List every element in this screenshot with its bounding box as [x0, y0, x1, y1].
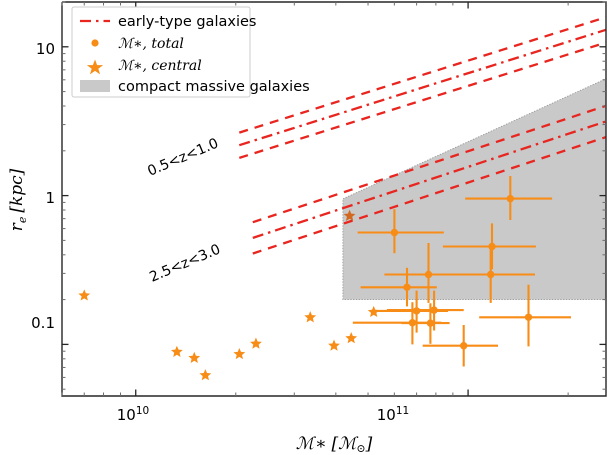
patch-swatch-icon: [80, 80, 110, 92]
circle-marker: [487, 271, 494, 278]
x-tick-label-1e10: 1010: [117, 405, 149, 424]
data-point: [171, 346, 183, 357]
star-marker: [250, 338, 262, 349]
legend-label-compact: compact massive galaxies: [118, 79, 310, 95]
data-point: [233, 348, 245, 359]
data-point: [188, 352, 200, 363]
annotation-high-z: 0.5<z<1.0: [145, 136, 221, 180]
circle-marker: [488, 243, 495, 250]
star-marker: [199, 369, 211, 380]
x-axis-title: ℳ∗[ℳ⊙]: [296, 434, 373, 455]
y-axis-title-text: re[kpc]: [7, 168, 29, 231]
annotation-label: 2.5<z<3.0: [147, 242, 223, 286]
series-m-central: [78, 210, 379, 381]
annotation-label: 0.5<z<1.0: [145, 136, 221, 180]
scatter-plot: 0.5<z<1.0 2.5<z<3.0 1010 1011 0.1 1 10: [0, 0, 614, 455]
x-tick-labels: 1010 1011: [117, 405, 409, 424]
legend: early-type galaxies ℳ∗, total ℳ∗, centra…: [72, 7, 310, 97]
star-marker: [171, 346, 183, 357]
x-tick-label-1e11: 1011: [377, 405, 409, 424]
legend-label-early-type: early-type galaxies: [118, 14, 256, 30]
y-axis-title: re[kpc]: [7, 168, 29, 231]
star-marker: [345, 332, 357, 343]
legend-label-m-central: ℳ∗, central: [118, 58, 202, 74]
circle-marker: [425, 271, 432, 278]
circle-marker: [525, 314, 532, 321]
y-tick-label-10: 10: [36, 40, 55, 58]
circle-marker: [460, 342, 467, 349]
data-point: [304, 311, 316, 322]
dot-marker-icon: [91, 39, 98, 46]
data-point: [199, 369, 211, 380]
annotation-low-z: 2.5<z<3.0: [147, 242, 223, 286]
circle-marker: [413, 307, 420, 314]
figure-canvas: 0.5<z<1.0 2.5<z<3.0 1010 1011 0.1 1 10: [0, 0, 614, 455]
circle-marker: [507, 195, 514, 202]
circle-marker: [391, 229, 398, 236]
circle-marker: [427, 319, 434, 326]
star-marker: [188, 352, 200, 363]
y-tick-label-0p1: 0.1: [31, 314, 55, 332]
y-tick-labels: 0.1 1 10: [31, 40, 55, 332]
x-axis-title-text: ℳ∗[ℳ⊙]: [296, 434, 373, 455]
star-marker: [233, 348, 245, 359]
star-marker: [328, 340, 340, 351]
star-marker: [78, 289, 90, 300]
data-point: [328, 340, 340, 351]
legend-label-m-total: ℳ∗, total: [118, 36, 184, 52]
star-marker: [304, 311, 316, 322]
circle-marker: [403, 284, 410, 291]
data-point: [345, 332, 357, 343]
y-tick-label-1: 1: [45, 189, 55, 207]
data-point: [423, 325, 498, 367]
data-point: [250, 338, 262, 349]
data-point: [78, 289, 90, 300]
